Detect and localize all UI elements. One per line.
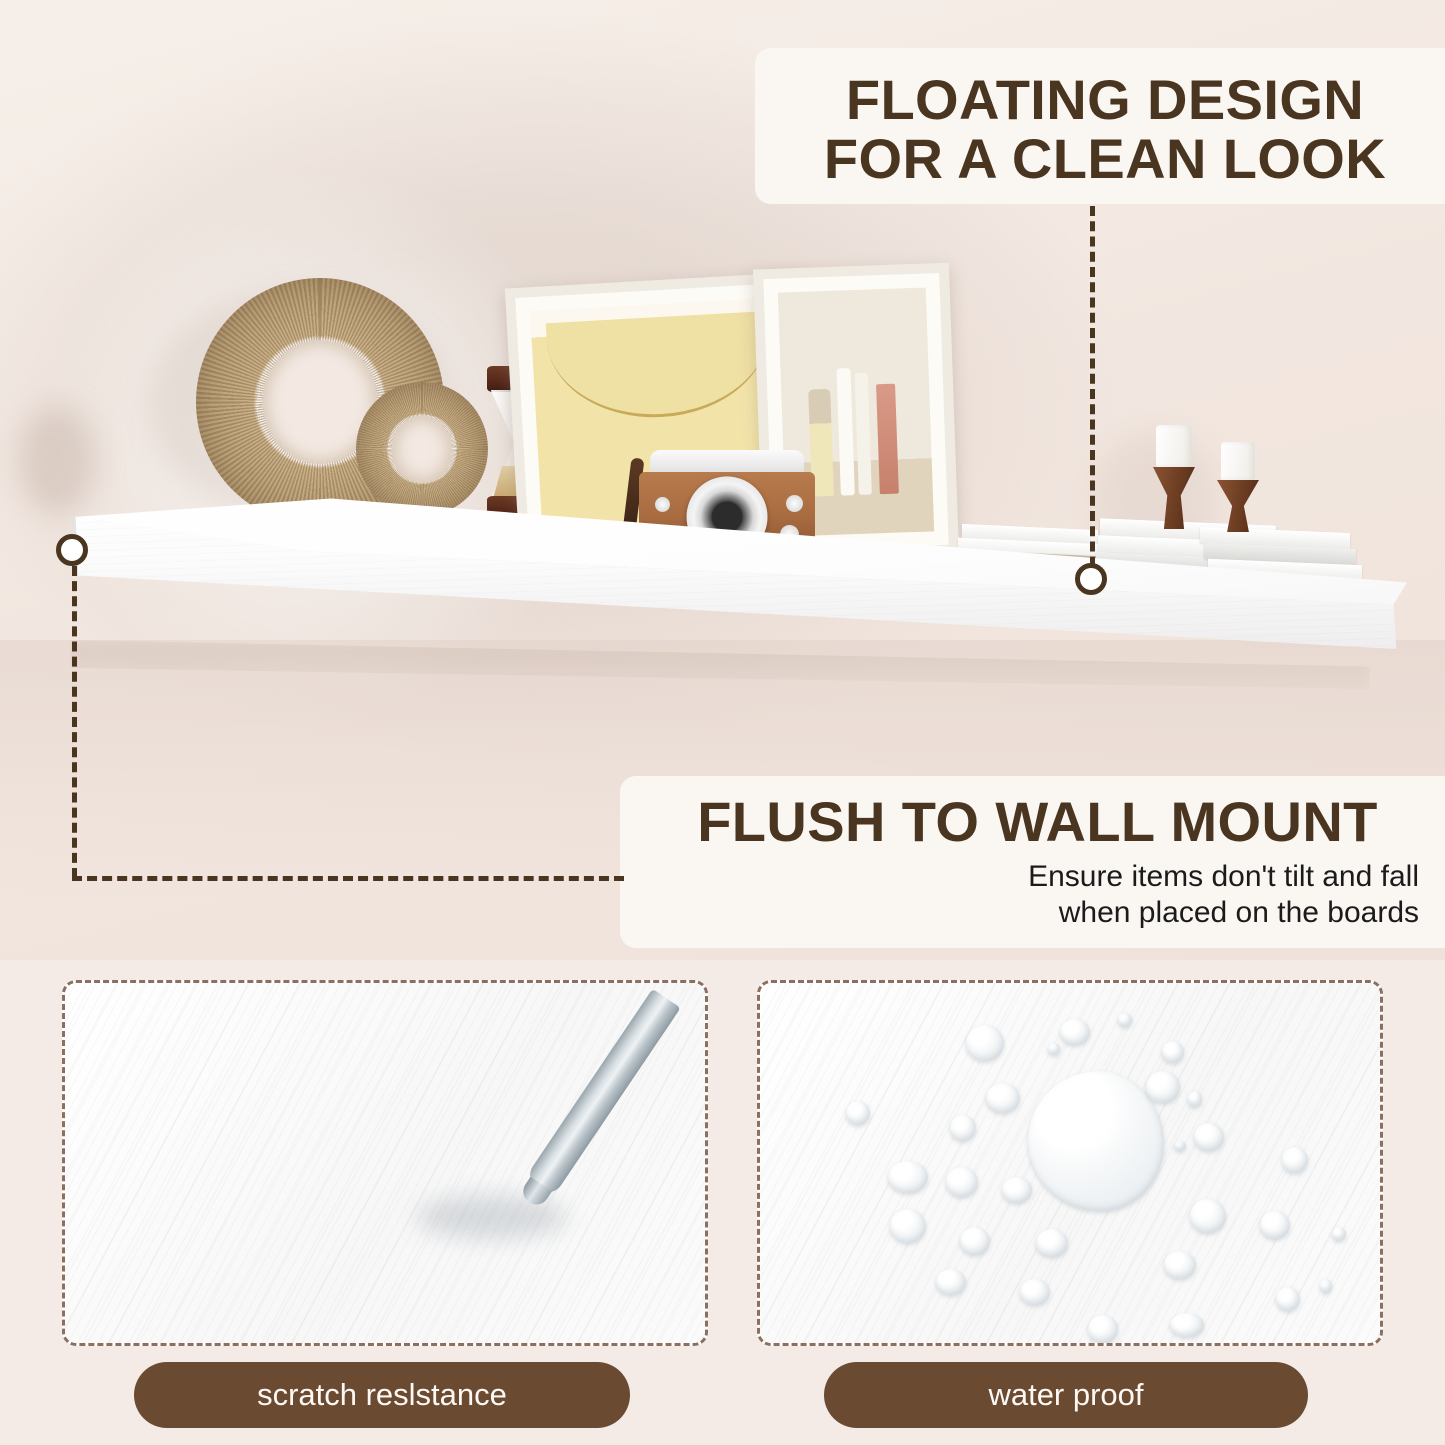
still-life-knife-2 [855,373,873,495]
callout-flush-to-wall-mount: FLUSH TO WALL MOUNT Ensure items don't t… [620,776,1445,948]
still-life-knife-1 [837,368,855,495]
water-droplet [1088,1315,1118,1343]
water-droplet [1162,1041,1184,1063]
water-droplet [888,1161,928,1193]
floating-shelf [62,495,1407,670]
water-droplet [1332,1227,1346,1241]
water-droplet [1188,1091,1202,1107]
feature-panel-water-proof [757,980,1383,1346]
water-droplet-large [1028,1071,1164,1211]
still-life-red-block [876,384,899,494]
water-droplet [1282,1147,1308,1173]
water-droplet [950,1115,976,1141]
water-droplet [1048,1043,1060,1055]
callout-floating-design: FLOATING DESIGN FOR A CLEAN LOOK [755,48,1445,204]
callout-2-connector-horizontal [72,876,624,881]
callout-1-connector-line [1090,206,1095,582]
water-droplet [1190,1199,1226,1233]
art-arc-shape [546,311,773,423]
water-droplet [1276,1287,1300,1311]
water-droplet [1060,1019,1090,1045]
callout-title-line-2: FOR A CLEAN LOOK [755,129,1445,188]
callout-2-connector-vertical [72,566,77,878]
pill-water-proof[interactable]: water proof [824,1362,1308,1428]
pill-scratch-resistance-label: scratch reslstance [257,1377,507,1413]
water-droplet [1194,1123,1224,1151]
water-droplet [1260,1211,1290,1239]
infographic-canvas: FLOATING DESIGN FOR A CLEAN LOOK FLUSH T… [0,0,1445,1445]
callout-floating-design-title: FLOATING DESIGN FOR A CLEAN LOOK [755,48,1445,189]
water-droplet [946,1167,978,1197]
callout-1-marker-dot [1075,563,1107,595]
water-droplet [966,1025,1004,1061]
feature-panel-scratch-resistance [62,980,708,1346]
pillar-candle [1156,425,1192,467]
callout-flush-title: FLUSH TO WALL MOUNT [620,776,1445,851]
water-droplet [960,1227,990,1255]
water-droplet [1036,1229,1068,1257]
water-droplet [1170,1313,1204,1337]
water-droplet [1164,1251,1196,1279]
callout-subtitle-line-2: when placed on the boards [620,895,1419,930]
callout-flush-subtitle: Ensure items don't tilt and fall when pl… [620,859,1445,930]
white-woodgrain-surface [65,983,705,1343]
water-droplet [986,1083,1020,1113]
pill-scratch-resistance[interactable]: scratch reslstance [134,1362,630,1428]
water-droplet [1146,1071,1180,1103]
water-droplet [890,1209,926,1243]
water-droplet [1174,1141,1186,1151]
water-droplet [1020,1279,1050,1305]
water-droplet [936,1269,966,1295]
callout-2-marker-dot [56,534,88,566]
water-droplet [1118,1013,1132,1027]
pill-water-proof-label: water proof [988,1377,1143,1413]
water-droplet [1320,1279,1332,1293]
water-droplet [1002,1177,1032,1203]
water-droplet [846,1101,870,1125]
callout-title-line-1: FLOATING DESIGN [755,70,1445,129]
pillar-candle [1221,442,1255,480]
callout-subtitle-line-1: Ensure items don't tilt and fall [620,859,1419,894]
